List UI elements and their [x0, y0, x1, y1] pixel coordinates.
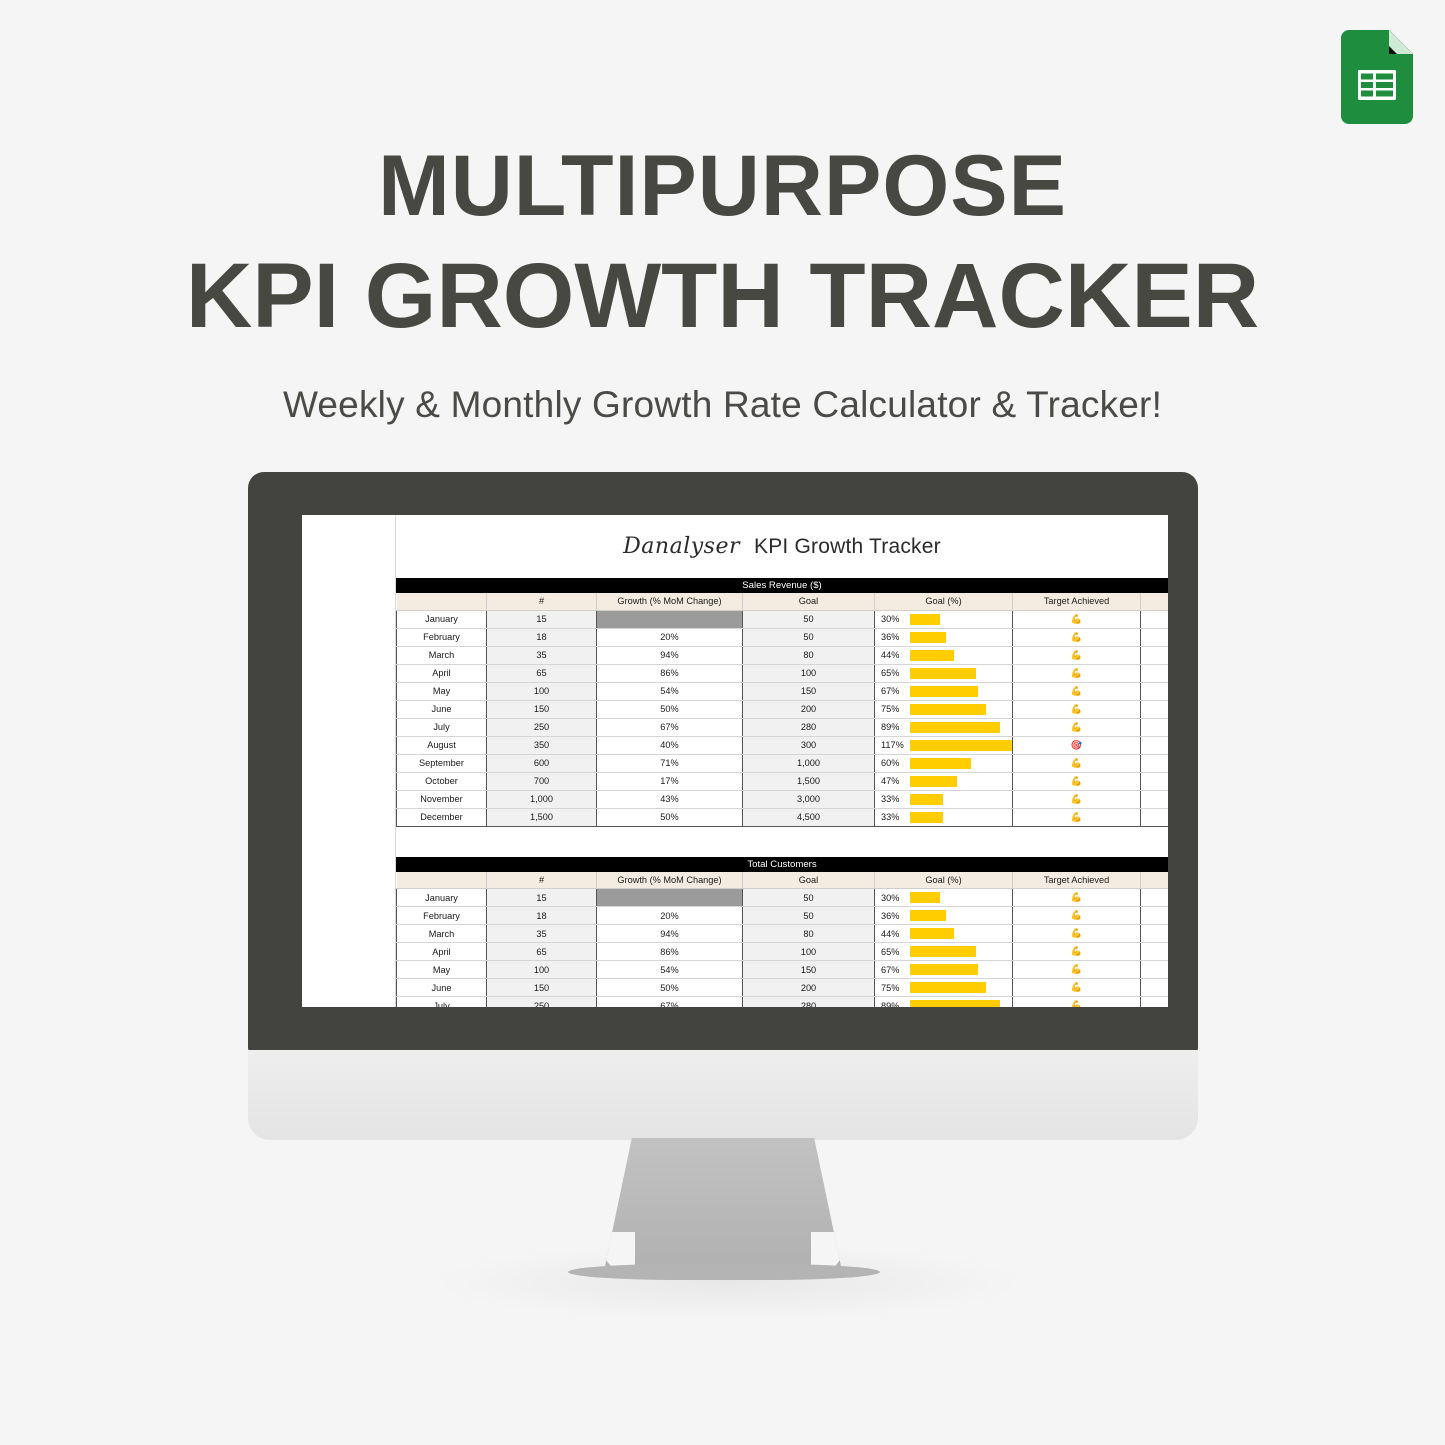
cell-goal[interactable]: 300	[743, 736, 875, 754]
cell-month[interactable]: April	[397, 943, 487, 961]
table-row[interactable]: May10054%15067%💪	[397, 961, 1169, 979]
cell-target-achieved[interactable]: 💪	[1013, 700, 1141, 718]
cell-goal[interactable]: 80	[743, 925, 875, 943]
cell-target-achieved[interactable]: 💪	[1013, 772, 1141, 790]
goal-percent-label: 60%	[881, 758, 905, 768]
cell-goal-percent[interactable]: 44%	[875, 925, 1013, 943]
cell-exceeds-target[interactable]	[1141, 664, 1169, 682]
page-title-line1: MULTIPURPOSE	[0, 140, 1445, 233]
cell-count[interactable]: 35	[487, 646, 597, 664]
column-header: Target Achieved	[1013, 593, 1141, 610]
table-row[interactable]: October70017%1,50047%💪	[397, 772, 1169, 790]
goal-progress-bar	[910, 632, 946, 643]
cell-exceeds-target[interactable]	[1141, 889, 1169, 907]
cell-month[interactable]: March	[397, 646, 487, 664]
cell-exceeds-target[interactable]	[1141, 790, 1169, 808]
cell-target-achieved[interactable]: 💪	[1013, 997, 1141, 1008]
cell-target-achieved[interactable]: 🎯	[1013, 736, 1141, 754]
cell-target-achieved[interactable]: 💪	[1013, 790, 1141, 808]
cell-goal-percent[interactable]: 75%	[875, 979, 1013, 997]
cell-growth[interactable]	[597, 610, 743, 628]
table-row[interactable]: January155030%💪	[397, 610, 1169, 628]
cell-count[interactable]: 65	[487, 943, 597, 961]
cell-target-achieved[interactable]: 💪	[1013, 664, 1141, 682]
goal-percent-label: 30%	[881, 893, 905, 903]
cell-count[interactable]: 600	[487, 754, 597, 772]
cell-month[interactable]: January	[397, 610, 487, 628]
column-header: Goal	[743, 872, 875, 889]
column-header: Goal	[743, 593, 875, 610]
cell-goal-percent[interactable]: 30%	[875, 889, 1013, 907]
cell-target-achieved[interactable]: 💪	[1013, 907, 1141, 925]
goal-progress-bar	[910, 946, 976, 957]
table-spacer	[302, 827, 1168, 857]
table-row[interactable]: February1820%5036%💪	[397, 628, 1169, 646]
cell-month[interactable]: March	[397, 925, 487, 943]
cell-growth[interactable]: 67%	[597, 997, 743, 1008]
table-row[interactable]: May10054%15067%💪	[397, 682, 1169, 700]
cell-month[interactable]: October	[397, 772, 487, 790]
cell-month[interactable]: July	[397, 997, 487, 1008]
cell-count[interactable]: 18	[487, 907, 597, 925]
goal-percent-label: 89%	[881, 722, 905, 732]
cell-goal-percent[interactable]: 33%	[875, 790, 1013, 808]
goal-progress-bar	[910, 794, 943, 805]
cell-growth[interactable]: 40%	[597, 736, 743, 754]
cell-goal-percent[interactable]: 65%	[875, 664, 1013, 682]
cell-exceeds-target[interactable]	[1141, 610, 1169, 628]
cell-count[interactable]: 65	[487, 664, 597, 682]
sheet-tables: Sales Revenue ($)#Growth (% MoM Change)G…	[302, 578, 1168, 1007]
goal-percent-label: 30%	[881, 614, 905, 624]
table-row[interactable]: April6586%10065%💪	[397, 943, 1169, 961]
table-row[interactable]: June15050%20075%💪	[397, 979, 1169, 997]
cell-month[interactable]: November	[397, 790, 487, 808]
cell-month[interactable]: July	[397, 718, 487, 736]
column-header: Goal (%)	[875, 872, 1013, 889]
cell-goal[interactable]: 100	[743, 943, 875, 961]
cell-goal[interactable]: 1,000	[743, 754, 875, 772]
cell-growth[interactable]: 50%	[597, 979, 743, 997]
goal-progress-bar	[910, 1000, 1000, 1007]
table-header-row: #Growth (% MoM Change)GoalGoal (%)Target…	[397, 593, 1169, 610]
cell-month[interactable]: September	[397, 754, 487, 772]
cell-month[interactable]: June	[397, 979, 487, 997]
cell-growth[interactable]: 50%	[597, 808, 743, 826]
cell-goal[interactable]: 280	[743, 997, 875, 1008]
cell-exceeds-target[interactable]	[1141, 961, 1169, 979]
cell-growth[interactable]: 43%	[597, 790, 743, 808]
cell-month[interactable]: May	[397, 961, 487, 979]
cell-goal[interactable]: 50	[743, 889, 875, 907]
cell-exceeds-target[interactable]	[1141, 925, 1169, 943]
goal-percent-label: 47%	[881, 776, 905, 786]
cell-month[interactable]: May	[397, 682, 487, 700]
goal-percent-label: 36%	[881, 911, 905, 921]
goal-percent-label: 75%	[881, 704, 905, 714]
cell-target-achieved[interactable]: 💪	[1013, 889, 1141, 907]
column-header: Target Achieved	[1013, 872, 1141, 889]
goal-progress-bar	[910, 686, 978, 697]
cell-growth[interactable]: 86%	[597, 943, 743, 961]
cell-exceeds-target[interactable]	[1141, 646, 1169, 664]
column-header-month	[397, 593, 487, 610]
goal-percent-label: 89%	[881, 1001, 905, 1008]
column-header: Exceeds Target	[1141, 872, 1169, 889]
sheet-doc-title: KPI Growth Tracker	[754, 535, 941, 559]
cell-target-achieved[interactable]: 💪	[1013, 754, 1141, 772]
cell-exceeds-target[interactable]: 50	[1141, 736, 1169, 754]
cell-exceeds-target[interactable]	[1141, 907, 1169, 925]
cell-exceeds-target[interactable]	[1141, 997, 1169, 1008]
cell-goal[interactable]: 200	[743, 979, 875, 997]
spreadsheet: Danalyser KPI Growth Tracker Sales Reven…	[302, 515, 1168, 1007]
table-band-label: Total Customers	[396, 857, 1168, 872]
table-row[interactable]: August35040%300117%🎯50	[397, 736, 1169, 754]
cell-goal-percent[interactable]: 67%	[875, 682, 1013, 700]
cell-month[interactable]: June	[397, 700, 487, 718]
cell-goal[interactable]: 100	[743, 664, 875, 682]
cell-growth[interactable]: 94%	[597, 925, 743, 943]
goal-progress-bar	[910, 964, 978, 975]
monitor-mockup: Danalyser KPI Growth Tracker Sales Reven…	[248, 472, 1198, 1232]
cell-goal[interactable]: 280	[743, 718, 875, 736]
goal-percent-label: 117%	[881, 740, 905, 750]
cell-target-achieved[interactable]: 💪	[1013, 943, 1141, 961]
cell-count[interactable]: 150	[487, 979, 597, 997]
cell-count[interactable]: 15	[487, 610, 597, 628]
cell-count[interactable]: 250	[487, 718, 597, 736]
cell-goal-percent[interactable]: 36%	[875, 907, 1013, 925]
goal-percent-label: 36%	[881, 632, 905, 642]
page-subtitle: Weekly & Monthly Growth Rate Calculator …	[0, 384, 1445, 426]
goal-percent-label: 67%	[881, 686, 905, 696]
monitor-screen: Danalyser KPI Growth Tracker Sales Reven…	[302, 515, 1168, 1007]
kpi-table-block: Sales Revenue ($)#Growth (% MoM Change)G…	[396, 578, 1168, 827]
cell-exceeds-target[interactable]	[1141, 754, 1169, 772]
goal-percent-label: 44%	[881, 650, 905, 660]
cell-count[interactable]: 150	[487, 700, 597, 718]
cell-count[interactable]: 1,500	[487, 808, 597, 826]
kpi-table: #Growth (% MoM Change)GoalGoal (%)Target…	[396, 872, 1168, 1008]
cell-exceeds-target[interactable]	[1141, 808, 1169, 826]
goal-progress-bar	[910, 704, 986, 715]
cell-target-achieved[interactable]: 💪	[1013, 925, 1141, 943]
cell-exceeds-target[interactable]	[1141, 943, 1169, 961]
table-row[interactable]: November1,00043%3,00033%💪	[397, 790, 1169, 808]
goal-percent-label: 33%	[881, 794, 905, 804]
cell-goal[interactable]: 150	[743, 682, 875, 700]
cell-goal[interactable]: 50	[743, 628, 875, 646]
cell-count[interactable]: 18	[487, 628, 597, 646]
table-row[interactable]: July25067%28089%💪	[397, 718, 1169, 736]
cell-goal-percent[interactable]: 60%	[875, 754, 1013, 772]
cell-growth[interactable]: 94%	[597, 646, 743, 664]
cell-growth[interactable]: 17%	[597, 772, 743, 790]
goal-percent-label: 67%	[881, 965, 905, 975]
cell-growth[interactable]: 50%	[597, 700, 743, 718]
column-header: Exceeds Target	[1141, 593, 1169, 610]
cell-growth[interactable]: 71%	[597, 754, 743, 772]
goal-percent-label: 33%	[881, 812, 905, 822]
cell-goal[interactable]: 150	[743, 961, 875, 979]
headline-block: MULTIPURPOSE KPI GROWTH TRACKER Weekly &…	[0, 140, 1445, 426]
cell-month[interactable]: August	[397, 736, 487, 754]
cell-goal-percent[interactable]: 65%	[875, 943, 1013, 961]
cell-target-achieved[interactable]: 💪	[1013, 718, 1141, 736]
cell-count[interactable]: 250	[487, 997, 597, 1008]
column-header: Growth (% MoM Change)	[597, 872, 743, 889]
cell-goal-percent[interactable]: 47%	[875, 772, 1013, 790]
table-row[interactable]: December1,50050%4,50033%💪	[397, 808, 1169, 826]
cell-goal[interactable]: 50	[743, 907, 875, 925]
goal-progress-bar	[910, 650, 954, 661]
cell-count[interactable]: 15	[487, 889, 597, 907]
cell-growth[interactable]: 54%	[597, 961, 743, 979]
cell-target-achieved[interactable]: 💪	[1013, 646, 1141, 664]
cell-growth[interactable]: 20%	[597, 907, 743, 925]
goal-progress-bar	[910, 928, 954, 939]
cell-target-achieved[interactable]: 💪	[1013, 979, 1141, 997]
column-header: Goal (%)	[875, 593, 1013, 610]
cell-goal-percent[interactable]: 30%	[875, 610, 1013, 628]
cell-goal-percent[interactable]: 36%	[875, 628, 1013, 646]
cell-goal[interactable]: 80	[743, 646, 875, 664]
cell-exceeds-target[interactable]	[1141, 628, 1169, 646]
monitor-stand-base	[568, 1264, 880, 1280]
kpi-table-block: Total Customers#Growth (% MoM Change)Goa…	[396, 857, 1168, 1008]
brand-logo: Danalyser	[623, 534, 740, 559]
goal-progress-bar	[910, 776, 957, 787]
cell-count[interactable]: 35	[487, 925, 597, 943]
cell-goal-percent[interactable]: 67%	[875, 961, 1013, 979]
cell-exceeds-target[interactable]	[1141, 772, 1169, 790]
cell-growth[interactable]: 67%	[597, 718, 743, 736]
cell-month[interactable]: January	[397, 889, 487, 907]
cell-target-achieved[interactable]: 💪	[1013, 628, 1141, 646]
table-band-label: Sales Revenue ($)	[396, 578, 1168, 593]
cell-goal[interactable]: 200	[743, 700, 875, 718]
goal-percent-label: 75%	[881, 983, 905, 993]
cell-growth[interactable]: 86%	[597, 664, 743, 682]
cell-goal-percent[interactable]: 33%	[875, 808, 1013, 826]
goal-progress-bar	[910, 892, 940, 903]
cell-count[interactable]: 1,000	[487, 790, 597, 808]
column-header: Growth (% MoM Change)	[597, 593, 743, 610]
cell-exceeds-target[interactable]	[1141, 979, 1169, 997]
cell-count[interactable]: 350	[487, 736, 597, 754]
table-row[interactable]: March3594%8044%💪	[397, 646, 1169, 664]
table-row[interactable]: June15050%20075%💪	[397, 700, 1169, 718]
table-row[interactable]: March3594%8044%💪	[397, 925, 1169, 943]
column-header: #	[487, 872, 597, 889]
cell-count[interactable]: 700	[487, 772, 597, 790]
cell-goal[interactable]: 3,000	[743, 790, 875, 808]
kpi-table: #Growth (% MoM Change)GoalGoal (%)Target…	[396, 593, 1168, 827]
cell-goal[interactable]: 1,500	[743, 772, 875, 790]
cell-month[interactable]: December	[397, 808, 487, 826]
cell-target-achieved[interactable]: 💪	[1013, 808, 1141, 826]
cell-goal[interactable]: 4,500	[743, 808, 875, 826]
column-header: #	[487, 593, 597, 610]
goal-progress-bar	[910, 910, 946, 921]
table-row[interactable]: July25067%28089%💪	[397, 997, 1169, 1008]
goal-percent-label: 44%	[881, 929, 905, 939]
cell-target-achieved[interactable]: 💪	[1013, 961, 1141, 979]
table-row[interactable]: April6586%10065%💪	[397, 664, 1169, 682]
cell-growth[interactable]: 54%	[597, 682, 743, 700]
goal-progress-bar	[910, 982, 986, 993]
goal-progress-bar	[910, 722, 1000, 733]
monitor-chin	[248, 1050, 1198, 1140]
goal-progress-bar	[910, 614, 940, 625]
cell-goal-percent[interactable]: 75%	[875, 700, 1013, 718]
table-row[interactable]: January155030%💪	[397, 889, 1169, 907]
cell-count[interactable]: 100	[487, 961, 597, 979]
goal-percent-label: 65%	[881, 668, 905, 678]
cell-month[interactable]: April	[397, 664, 487, 682]
cell-exceeds-target[interactable]	[1141, 700, 1169, 718]
cell-goal-percent[interactable]: 89%	[875, 718, 1013, 736]
cell-month[interactable]: February	[397, 628, 487, 646]
goal-percent-label: 65%	[881, 947, 905, 957]
goal-progress-bar	[910, 668, 976, 679]
goal-progress-bar	[910, 758, 971, 769]
cell-growth[interactable]: 20%	[597, 628, 743, 646]
cell-goal-percent[interactable]: 117%	[875, 736, 1013, 754]
cell-month[interactable]: February	[397, 907, 487, 925]
cell-goal[interactable]: 50	[743, 610, 875, 628]
cell-count[interactable]: 100	[487, 682, 597, 700]
goal-progress-bar	[910, 812, 943, 823]
cell-exceeds-target[interactable]	[1141, 718, 1169, 736]
goal-progress-bar	[910, 740, 1012, 751]
monitor-stand-neck	[603, 1138, 843, 1276]
cell-exceeds-target[interactable]	[1141, 682, 1169, 700]
sheet-title-row: Danalyser KPI Growth Tracker	[302, 515, 1168, 578]
cell-target-achieved[interactable]: 💪	[1013, 610, 1141, 628]
page-title-line2: KPI GROWTH TRACKER	[0, 245, 1445, 348]
table-row[interactable]: February1820%5036%💪	[397, 907, 1169, 925]
cell-goal-percent[interactable]: 89%	[875, 997, 1013, 1008]
cell-target-achieved[interactable]: 💪	[1013, 682, 1141, 700]
google-sheets-icon[interactable]	[1341, 30, 1413, 124]
table-row[interactable]: September60071%1,00060%💪	[397, 754, 1169, 772]
cell-growth[interactable]	[597, 889, 743, 907]
table-header-row: #Growth (% MoM Change)GoalGoal (%)Target…	[397, 872, 1169, 889]
column-header-month	[397, 872, 487, 889]
cell-goal-percent[interactable]: 44%	[875, 646, 1013, 664]
